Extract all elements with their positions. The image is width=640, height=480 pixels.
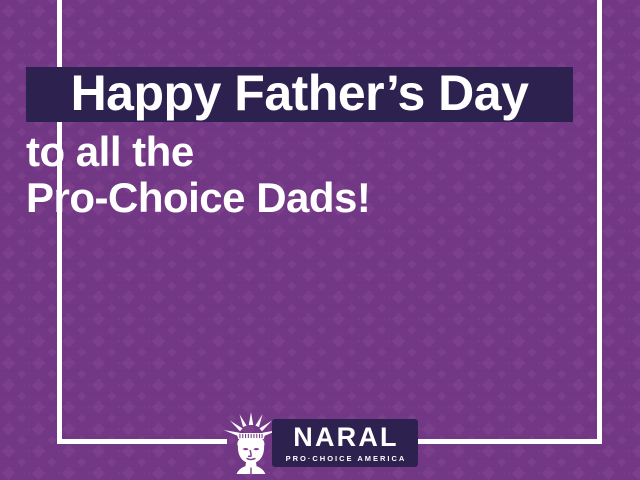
headline-text: Happy Father’s Day xyxy=(26,62,573,124)
frame-right-rule xyxy=(597,0,602,444)
naral-wordmark: NARAL xyxy=(291,424,399,451)
fathers-day-social-graphic: Happy Father’s Day to all the Pro-Choice… xyxy=(0,0,640,480)
naral-wordmark-box: NARAL PRO·CHOICE AMERICA xyxy=(272,419,418,467)
naral-logo-lockup: NARAL PRO·CHOICE AMERICA xyxy=(222,412,418,474)
subline-1: to all the xyxy=(26,128,194,176)
subline-2: Pro-Choice Dads! xyxy=(26,174,370,222)
frame-bottom-rule-left xyxy=(57,439,227,444)
frame-bottom-rule-right xyxy=(416,439,602,444)
naral-tagline: PRO·CHOICE AMERICA xyxy=(284,455,407,463)
